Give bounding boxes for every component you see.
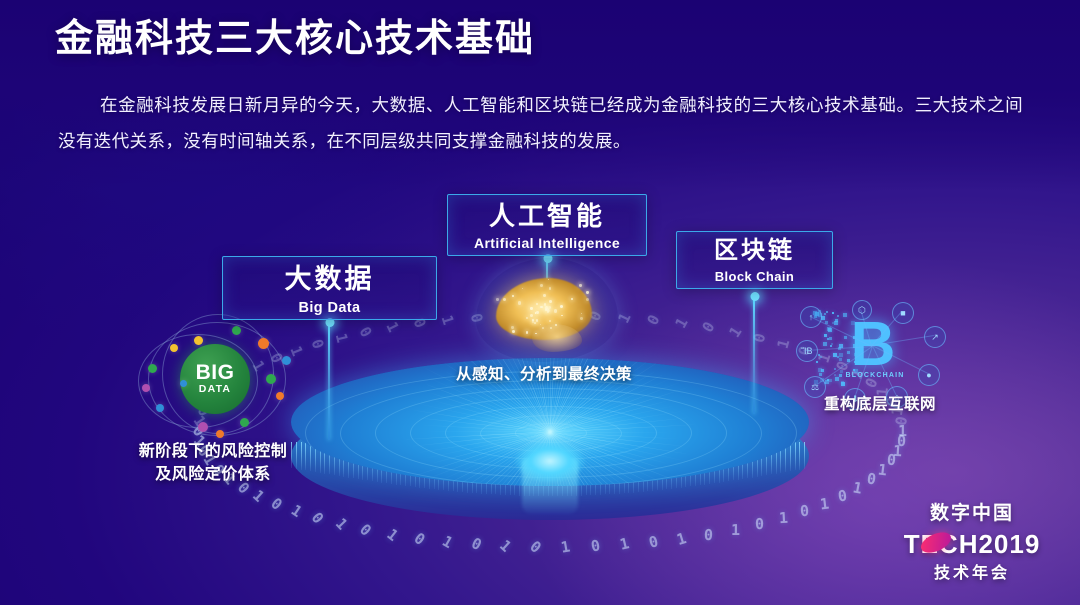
blockchain-pixel — [840, 370, 843, 373]
logo-line3: 技术年会 — [892, 559, 1052, 583]
blockchain-pixel — [833, 353, 837, 357]
blockchain-pixel — [823, 342, 827, 346]
blockchain-pixel — [843, 313, 847, 317]
bigdata-node-icon — [276, 392, 284, 400]
blockchain-pixel — [818, 354, 820, 356]
brain-spark — [561, 315, 562, 316]
bigdata-icon-cluster: BIG DATA — [136, 318, 296, 440]
brain-spark — [547, 309, 550, 312]
bigdata-node-icon — [142, 384, 150, 392]
blockchain-pixel — [839, 374, 842, 377]
blockchain-icon-cluster: B BLOCKCHAIN ↑ἽB⚖⬇⌂●↗■⬡ — [794, 300, 950, 406]
blockchain-pixel — [829, 379, 832, 382]
card-ai-cn: 人工智能 — [448, 203, 646, 229]
blockchain-pixel — [827, 338, 829, 340]
bigdata-node-icon — [216, 430, 224, 438]
blockchain-pixel — [832, 312, 834, 314]
blockchain-pixel — [851, 321, 855, 325]
brain-spark — [530, 307, 532, 309]
brain-spark — [542, 327, 544, 329]
blockchain-pixel — [826, 311, 828, 313]
blockchain-pixel — [839, 358, 842, 361]
card-ai-en: Artificial Intelligence — [448, 235, 646, 251]
bigdata-node-icon — [198, 422, 208, 432]
card-bigdata[interactable]: 大数据 Big Data — [222, 256, 437, 320]
blockchain-pixel — [839, 353, 843, 357]
conference-logo: 数字中国 TECH2019 技术年会 — [892, 498, 1052, 583]
disc-rib — [795, 442, 796, 470]
blockchain-node-icon: ἽB — [796, 340, 818, 362]
slide-canvas: 1010101010101010101010101010101010101010… — [0, 0, 1080, 605]
brain-spark — [554, 309, 557, 312]
disc-core-glow — [514, 439, 586, 483]
bigdata-node-icon — [266, 374, 276, 384]
brain-spark — [534, 322, 536, 324]
blockchain-node-icon: ■ — [892, 302, 914, 324]
blockchain-pixel — [829, 337, 832, 340]
brain-spark — [511, 326, 513, 328]
blockchain-pixel — [854, 361, 856, 363]
card-blockchain-en: Block Chain — [677, 269, 832, 284]
blockchain-pixel — [819, 373, 822, 376]
bigdata-node-icon — [194, 336, 203, 345]
logo-line1: 数字中国 — [892, 498, 1052, 525]
brain-spark — [549, 300, 552, 303]
caption-blockchain: 重构底层互联网 — [790, 392, 970, 414]
bigdata-node-icon — [282, 356, 291, 365]
blockchain-pixel — [832, 322, 834, 324]
caption-bigdata-line1: 新阶段下的风险控制 — [98, 440, 328, 463]
brain-spark — [526, 331, 529, 334]
blockchain-pixel — [854, 369, 858, 373]
connector-line-bigdata — [328, 322, 330, 440]
bigdata-node-icon — [232, 326, 241, 335]
bigdata-arc — [162, 314, 274, 434]
caption-ai: 从感知、分析到最终决策 — [424, 362, 664, 384]
blockchain-pixel — [847, 351, 850, 354]
bigdata-node-icon — [170, 344, 178, 352]
brain-spark — [526, 317, 528, 319]
ai-brain-graphic — [476, 258, 618, 362]
blockchain-pixel — [816, 361, 818, 363]
blockchain-pixel — [830, 345, 832, 347]
brain-spark — [536, 311, 539, 314]
brain-spark — [535, 333, 537, 335]
caption-bigdata-line2: 及风险定价体系 — [98, 463, 328, 486]
blockchain-pixel — [824, 334, 827, 337]
caption-bigdata: 新阶段下的风险控制 及风险定价体系 — [98, 440, 328, 486]
body-paragraph: 在金融科技发展日新月异的今天，大数据、人工智能和区块链已经成为金融科技的三大核心… — [58, 88, 1023, 160]
card-bigdata-cn: 大数据 — [223, 266, 436, 293]
card-bigdata-en: Big Data — [223, 300, 436, 316]
card-ai[interactable]: 人工智能 Artificial Intelligence — [447, 194, 647, 256]
disc-rib — [799, 442, 800, 470]
blockchain-pixel — [834, 374, 836, 376]
blockchain-pixel — [841, 381, 844, 384]
card-blockchain[interactable]: 区块链 Block Chain — [676, 231, 833, 289]
bigdata-node-icon — [156, 404, 164, 412]
brain-spark — [586, 298, 589, 301]
bigdata-node-icon — [148, 364, 157, 373]
blockchain-pixel — [844, 336, 847, 339]
card-blockchain-cn: 区块链 — [677, 239, 832, 263]
brain-spark — [579, 284, 581, 286]
blockchain-wordmark: BLOCKCHAIN — [832, 372, 918, 379]
blockchain-pixel — [837, 315, 839, 317]
brain-spark — [549, 320, 551, 322]
page-title: 金融科技三大核心技术基础 — [55, 18, 535, 62]
brain-spark — [543, 294, 546, 297]
brain-spark — [536, 303, 538, 305]
brain-spark — [580, 317, 583, 320]
disc-rib — [804, 442, 805, 469]
bigdata-node-icon — [258, 338, 269, 349]
brain-spark — [586, 291, 588, 293]
bigdata-node-icon — [240, 418, 249, 427]
connector-line-blockchain — [753, 296, 755, 414]
blockchain-pixel — [820, 356, 822, 358]
logo-wordmark: TECH2019 — [892, 529, 1052, 557]
connector-dot-blockchain — [751, 292, 760, 301]
blockchain-node-icon: ● — [918, 364, 940, 386]
blockchain-pixel — [824, 313, 826, 315]
brain-spark — [540, 284, 543, 287]
bigdata-node-icon — [180, 380, 187, 387]
blockchain-pixel — [835, 319, 838, 322]
brain-spark — [496, 298, 498, 300]
brain-spark — [518, 301, 521, 304]
blockchain-pixel — [818, 368, 822, 372]
